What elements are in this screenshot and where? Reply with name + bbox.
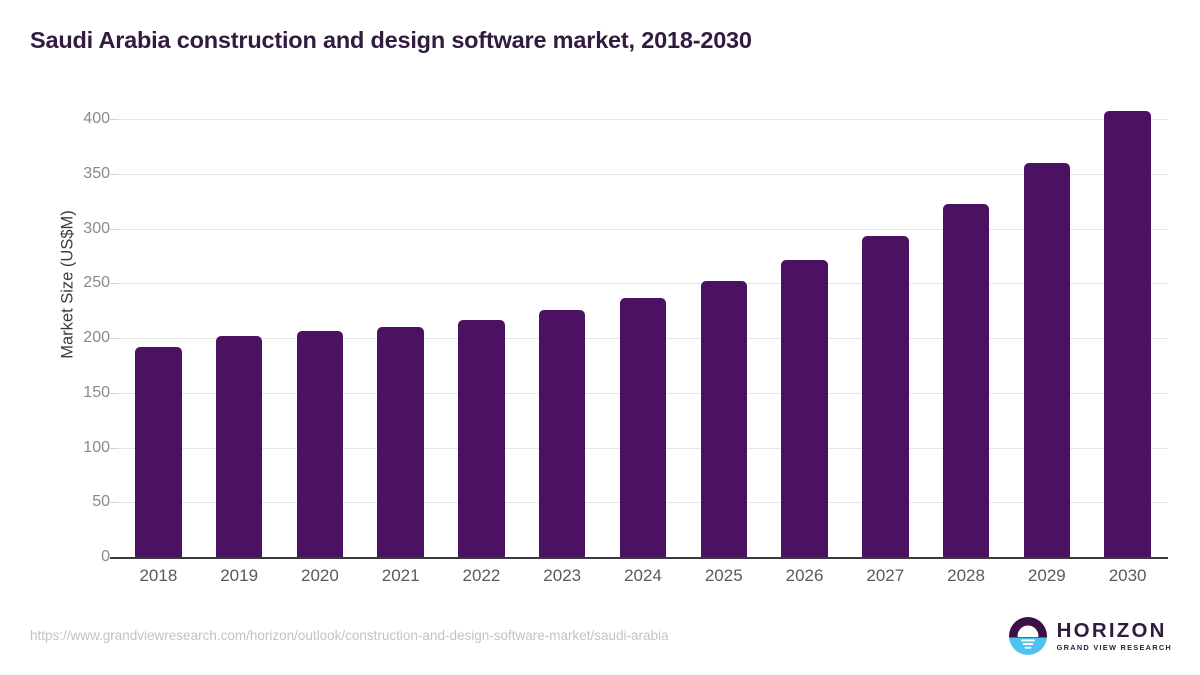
y-axis-tick-label: 200 bbox=[50, 329, 110, 347]
bar-group[interactable]: 2024 bbox=[620, 0, 666, 675]
x-axis-tick-label: 2028 bbox=[929, 566, 1003, 586]
bar[interactable] bbox=[620, 298, 666, 558]
bar-group[interactable]: 2018 bbox=[135, 0, 181, 675]
bar[interactable] bbox=[216, 336, 262, 557]
x-axis-tick-label: 2018 bbox=[121, 566, 195, 586]
bar[interactable] bbox=[701, 281, 747, 557]
x-axis-tick-label: 2020 bbox=[283, 566, 357, 586]
bar[interactable] bbox=[862, 236, 908, 557]
logo-wordmark: HORIZON bbox=[1057, 621, 1172, 642]
bar[interactable] bbox=[377, 327, 423, 557]
x-axis-tick-label: 2021 bbox=[363, 566, 437, 586]
x-axis-tick-label: 2022 bbox=[444, 566, 518, 586]
bar[interactable] bbox=[1104, 111, 1150, 557]
bar[interactable] bbox=[458, 320, 504, 557]
y-axis-tick-mark bbox=[110, 502, 118, 503]
bar[interactable] bbox=[539, 310, 585, 557]
bar-group[interactable]: 2025 bbox=[701, 0, 747, 675]
y-axis-tick-labels: 050100150200250300350400 bbox=[40, 0, 110, 675]
y-axis-tick-label: 400 bbox=[50, 110, 110, 128]
bar-group[interactable]: 2028 bbox=[943, 0, 989, 675]
y-axis-tick-mark bbox=[110, 448, 118, 449]
y-axis-tick-label: 350 bbox=[50, 165, 110, 183]
source-url[interactable]: https://www.grandviewresearch.com/horizo… bbox=[30, 628, 669, 643]
x-axis-tick-label: 2023 bbox=[525, 566, 599, 586]
horizon-logo[interactable]: HORIZON GRAND VIEW RESEARCH bbox=[1008, 614, 1172, 658]
y-axis-tick-label: 150 bbox=[50, 384, 110, 402]
y-axis-tick-label: 250 bbox=[50, 274, 110, 292]
horizon-logo-icon bbox=[1008, 616, 1048, 656]
x-axis-tick-label: 2029 bbox=[1010, 566, 1084, 586]
bar-group[interactable]: 2029 bbox=[1024, 0, 1070, 675]
bar-group[interactable]: 2021 bbox=[377, 0, 423, 675]
bar-group[interactable]: 2019 bbox=[216, 0, 262, 675]
horizon-logo-text: HORIZON GRAND VIEW RESEARCH bbox=[1057, 621, 1172, 652]
bar[interactable] bbox=[943, 204, 989, 557]
x-axis-tick-label: 2024 bbox=[606, 566, 680, 586]
bar[interactable] bbox=[297, 331, 343, 557]
y-axis-tick-mark bbox=[110, 229, 118, 230]
x-axis-tick-label: 2027 bbox=[848, 566, 922, 586]
y-axis-tick-label: 100 bbox=[50, 439, 110, 457]
x-axis-tick-label: 2026 bbox=[767, 566, 841, 586]
y-axis-tick-mark bbox=[110, 174, 118, 175]
x-axis-tick-label: 2019 bbox=[202, 566, 276, 586]
bar[interactable] bbox=[781, 260, 827, 557]
y-axis-tick-label: 0 bbox=[50, 548, 110, 566]
bar-group[interactable]: 2026 bbox=[781, 0, 827, 675]
bar-group[interactable]: 2030 bbox=[1104, 0, 1150, 675]
y-axis-tick-label: 300 bbox=[50, 220, 110, 238]
bar[interactable] bbox=[1024, 163, 1070, 557]
bar[interactable] bbox=[135, 347, 181, 557]
y-axis-tick-mark bbox=[110, 393, 118, 394]
y-axis-tick-mark bbox=[110, 338, 118, 339]
bar-group[interactable]: 2027 bbox=[862, 0, 908, 675]
chart-plot-area: Market Size (US$M) 050100150200250300350… bbox=[0, 0, 1200, 675]
bar-group[interactable]: 2022 bbox=[458, 0, 504, 675]
bar-group[interactable]: 2020 bbox=[297, 0, 343, 675]
y-axis-tick-mark bbox=[110, 119, 118, 120]
logo-tagline: GRAND VIEW RESEARCH bbox=[1057, 644, 1172, 651]
chart-page: Saudi Arabia construction and design sof… bbox=[0, 0, 1200, 675]
y-axis-tick-label: 50 bbox=[50, 493, 110, 511]
y-axis-tick-mark bbox=[110, 283, 118, 284]
x-axis-tick-label: 2030 bbox=[1090, 566, 1164, 586]
x-axis-tick-label: 2025 bbox=[687, 566, 761, 586]
bar-group[interactable]: 2023 bbox=[539, 0, 585, 675]
bar-series: 2018201920202021202220232024202520262027… bbox=[118, 0, 1168, 675]
